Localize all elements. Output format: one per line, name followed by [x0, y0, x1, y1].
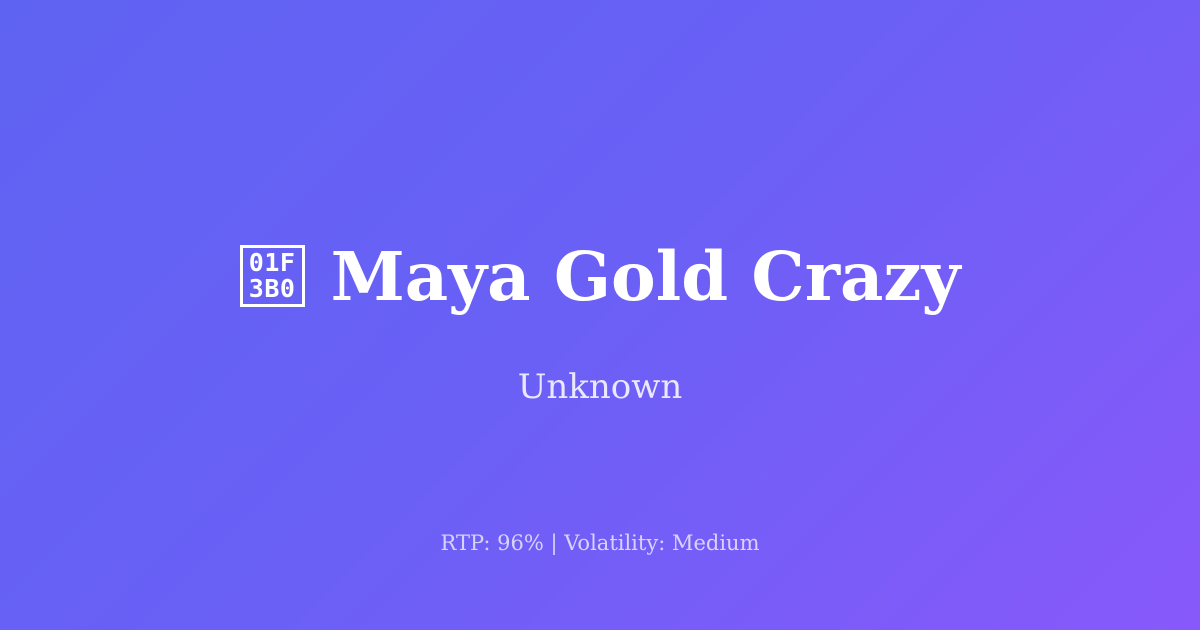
slot-machine-icon-codepoint-low: 3B0: [249, 276, 296, 302]
slot-machine-icon: 01F 3B0: [240, 245, 305, 307]
title-row: 01F 3B0 Maya Gold Crazy: [0, 232, 1200, 320]
page-title: Maya Gold Crazy: [331, 243, 961, 310]
slot-machine-icon-codepoint-high: 01F: [249, 250, 296, 276]
game-stats-line: RTP: 96% | Volatility: Medium: [0, 529, 1200, 557]
provider-label: Unknown: [0, 366, 1200, 408]
game-hero-card: 01F 3B0 Maya Gold Crazy Unknown RTP: 96%…: [0, 0, 1200, 630]
